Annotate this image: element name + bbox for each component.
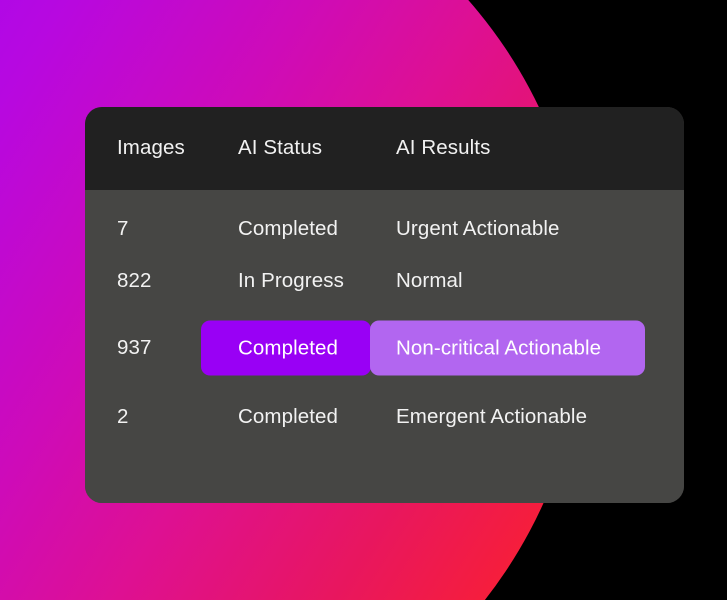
ai-results-table-card: Images AI Status AI Results 7 Completed … — [85, 107, 684, 503]
table-row: 2 — [117, 405, 129, 429]
table-row: Completed — [238, 217, 338, 241]
results-badge[interactable]: Non-critical Actionable — [370, 321, 645, 376]
column-header-ai-results: AI Results — [396, 136, 490, 160]
screenshot-canvas: Images AI Status AI Results 7 Completed … — [0, 0, 727, 600]
table-row: 7 — [117, 217, 129, 241]
table-header-row: Images AI Status AI Results — [85, 107, 684, 190]
table-row: 937 — [117, 336, 152, 360]
table-row: 822 — [117, 269, 152, 293]
column-header-images: Images — [117, 136, 185, 160]
status-badge[interactable]: Completed — [201, 321, 371, 376]
table-row: Emergent Actionable — [396, 405, 587, 429]
table-row: Completed — [238, 405, 338, 429]
table-row: Normal — [396, 269, 463, 293]
table-body: 7 Completed Urgent Actionable 822 In Pro… — [85, 190, 684, 503]
column-header-ai-status: AI Status — [238, 136, 322, 160]
table-row: Urgent Actionable — [396, 217, 560, 241]
table-row: In Progress — [238, 269, 344, 293]
